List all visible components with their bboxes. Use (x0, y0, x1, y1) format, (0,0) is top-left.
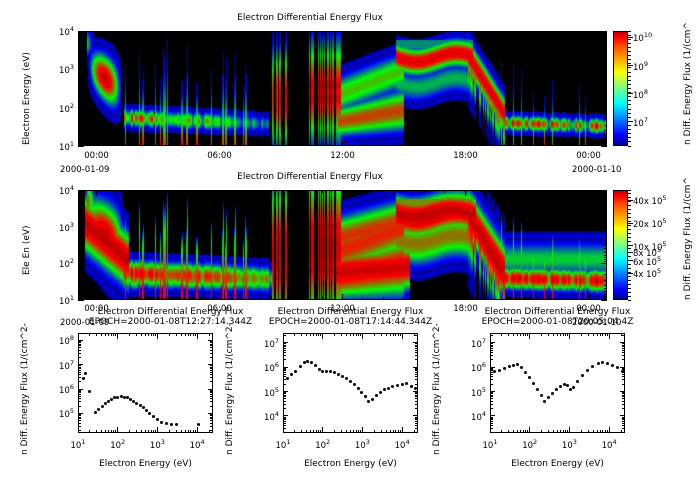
tick-mark (601, 300, 607, 301)
tick-mark (553, 430, 554, 433)
y-tick-label: 102 (44, 102, 74, 115)
line-plot-1[interactable] (283, 333, 418, 433)
line-plot-ytick-0: 106 (46, 383, 74, 396)
tick-mark (490, 343, 493, 344)
tick-mark (628, 233, 631, 234)
tick-mark (415, 418, 418, 419)
tick-mark (78, 257, 81, 258)
colorbar-tick-label: 109 (633, 60, 648, 73)
tick-mark (398, 333, 399, 336)
tick-mark (111, 333, 112, 336)
data-point (294, 370, 297, 373)
tick-mark (283, 355, 286, 356)
tick-mark (601, 190, 607, 191)
tick-mark (386, 333, 387, 336)
tick-mark (210, 390, 213, 391)
tick-mark (78, 223, 81, 224)
tick-mark (313, 430, 314, 433)
tick-mark (383, 143, 384, 146)
tick-mark (547, 143, 548, 146)
tick-mark (283, 374, 286, 375)
tick-mark (78, 414, 81, 415)
colorbar-tick-label: 108 (633, 88, 648, 101)
tick-mark (78, 146, 84, 147)
tick-mark (129, 333, 130, 336)
figure-root: Electron Differential Energy Flux Electr… (0, 0, 697, 492)
tick-mark (356, 430, 357, 433)
tick-mark (513, 333, 514, 336)
tick-mark (260, 190, 261, 193)
tick-mark (525, 333, 526, 336)
tick-mark (415, 384, 418, 385)
tick-mark (601, 146, 607, 147)
tick-mark (301, 297, 302, 300)
tick-mark (628, 146, 631, 147)
tick-mark (628, 121, 631, 122)
data-point (152, 415, 155, 418)
tick-mark (465, 190, 466, 193)
data-point (299, 365, 302, 368)
data-point (572, 386, 575, 389)
tick-mark (283, 417, 286, 418)
tick-mark (358, 430, 359, 433)
tick-mark (414, 333, 415, 336)
tick-mark (210, 368, 213, 369)
tick-mark (403, 31, 404, 34)
y-tick-label: 103 (44, 221, 74, 234)
colorbar-tick-label: 107 (633, 116, 648, 129)
tick-mark (622, 355, 625, 356)
tick-mark (602, 333, 603, 336)
tick-mark (415, 392, 418, 393)
spectrogram-top-plot[interactable] (78, 31, 607, 146)
tick-mark (604, 96, 607, 97)
tick-mark (628, 109, 631, 110)
tick-mark (78, 341, 81, 342)
tick-mark (604, 49, 607, 50)
tick-mark (318, 430, 319, 433)
tick-mark (415, 395, 418, 396)
tick-mark (581, 333, 582, 336)
tick-mark (78, 406, 81, 407)
tick-mark (628, 260, 631, 261)
tick-mark (210, 357, 213, 358)
line-plot-xtick-0: 103 (143, 438, 171, 451)
line-plot-subtitle-2: EPOCH=2000-01-08T20:05:04.4Z (435, 317, 680, 327)
tick-mark (78, 80, 81, 81)
tick-mark (210, 426, 213, 427)
tick-mark (181, 430, 182, 433)
tick-mark (628, 35, 631, 36)
line-plot-2[interactable] (490, 333, 625, 433)
tick-mark (605, 430, 606, 433)
x-tick-label: 06:00 (202, 151, 238, 161)
tick-mark (628, 72, 631, 73)
tick-mark (526, 143, 527, 146)
tick-mark (415, 379, 418, 380)
tick-mark (113, 430, 114, 433)
tick-mark (628, 55, 631, 56)
tick-mark (78, 372, 81, 373)
tick-mark (353, 430, 354, 433)
tick-mark (444, 143, 445, 146)
tick-mark (78, 398, 81, 399)
tick-mark (465, 143, 466, 146)
tick-mark (178, 190, 179, 193)
data-point (290, 373, 293, 376)
tick-mark (588, 143, 589, 146)
tick-mark (604, 255, 607, 256)
tick-mark (362, 143, 363, 146)
tick-mark (622, 408, 625, 409)
tick-mark (78, 42, 81, 43)
tick-mark (197, 333, 198, 339)
spectrogram-top-title: Electron Differential Energy Flux (0, 13, 620, 23)
tick-mark (393, 333, 394, 336)
tick-mark (523, 333, 524, 336)
data-point (512, 364, 515, 367)
tick-mark (628, 96, 631, 97)
tick-mark (604, 215, 607, 216)
tick-mark (322, 297, 323, 300)
tick-mark (219, 297, 220, 300)
colorbar-tick-label: 40x 105 (633, 194, 667, 207)
data-point (532, 382, 535, 385)
tick-mark (178, 297, 179, 300)
tick-mark (342, 143, 343, 146)
data-point (375, 394, 378, 397)
x-tick-label: 18:00 (447, 151, 483, 161)
data-point (524, 371, 527, 374)
tick-mark (601, 69, 607, 70)
tick-mark (604, 125, 607, 126)
line-plot-xtick-2: 104 (595, 438, 623, 451)
data-point (135, 402, 138, 405)
tick-mark (628, 133, 631, 134)
tick-mark (398, 430, 399, 433)
tick-mark (628, 272, 631, 273)
tick-mark (78, 207, 81, 208)
tick-mark (185, 430, 186, 433)
data-point (104, 402, 107, 405)
tick-mark (622, 376, 625, 377)
tick-mark (508, 430, 509, 433)
tick-mark (178, 143, 179, 146)
data-point (536, 388, 539, 391)
tick-mark (210, 344, 213, 345)
tick-mark (137, 297, 138, 300)
tick-mark (169, 430, 170, 433)
tick-mark (283, 425, 286, 426)
tick-mark (188, 430, 189, 433)
line-plot-ytick-1: 106 (251, 361, 279, 374)
tick-mark (628, 223, 633, 224)
tick-mark (78, 418, 81, 419)
tick-mark (153, 430, 154, 433)
tick-mark (383, 190, 384, 193)
tick-mark (490, 393, 493, 394)
tick-mark (628, 217, 631, 218)
data-point (337, 373, 340, 376)
tick-mark (78, 248, 81, 249)
tick-mark (605, 333, 606, 336)
tick-mark (193, 430, 194, 433)
tick-mark (622, 398, 625, 399)
tick-mark (526, 297, 527, 300)
tick-mark (78, 137, 81, 138)
tick-mark (78, 288, 81, 289)
tick-mark (597, 333, 598, 336)
tick-mark (560, 333, 561, 336)
tick-mark (567, 190, 568, 193)
tick-mark (108, 333, 109, 336)
line-plot-ytick-2: 107 (458, 337, 486, 350)
tick-mark (210, 415, 213, 416)
tick-mark (622, 374, 625, 375)
tick-mark (283, 404, 286, 405)
tick-mark (374, 430, 375, 433)
tick-mark (604, 134, 607, 135)
tick-mark (283, 395, 286, 396)
tick-mark (548, 430, 549, 433)
tick-mark (78, 390, 81, 391)
tick-mark (117, 31, 118, 34)
tick-mark (490, 408, 493, 409)
tick-mark (78, 31, 84, 32)
tick-mark (628, 288, 631, 289)
line-plot-xtick-1: 102 (309, 438, 337, 451)
tick-mark (210, 420, 213, 421)
tick-mark (424, 143, 425, 146)
tick-mark (415, 368, 418, 369)
tick-mark (628, 39, 631, 40)
tick-mark (604, 212, 607, 213)
tick-mark (318, 333, 319, 336)
tick-mark (301, 333, 302, 336)
tick-mark (395, 333, 396, 336)
tick-mark (342, 190, 343, 193)
tick-mark (628, 264, 631, 265)
tick-mark (96, 333, 97, 336)
tick-mark (78, 65, 81, 66)
tick-mark (137, 31, 138, 34)
line-plot-xtick-1: 101 (269, 438, 297, 451)
tick-mark (622, 417, 625, 418)
tick-mark (506, 143, 507, 146)
tick-mark (604, 294, 607, 295)
tick-mark (444, 297, 445, 300)
tick-mark (402, 427, 403, 433)
tick-mark (313, 333, 314, 336)
tick-mark (622, 345, 625, 346)
tick-mark (424, 31, 425, 34)
tick-mark (565, 430, 566, 433)
tick-mark (609, 333, 610, 339)
tick-mark (628, 284, 631, 285)
tick-mark (78, 215, 81, 216)
tick-mark (563, 430, 564, 433)
data-point (555, 388, 558, 391)
tick-mark (283, 372, 286, 373)
tick-mark (341, 333, 342, 336)
tick-mark (604, 87, 607, 88)
tick-mark (485, 31, 486, 34)
line-plot-xtick-0: 101 (64, 438, 92, 451)
tick-mark (78, 60, 81, 61)
tick-mark (322, 333, 323, 339)
spectrogram-mid-plot[interactable] (78, 190, 607, 300)
tick-mark (604, 92, 607, 93)
tick-mark (78, 107, 84, 108)
tick-mark (199, 297, 200, 300)
tick-mark (588, 333, 589, 336)
tick-mark (169, 333, 170, 336)
tick-mark (569, 427, 570, 433)
tick-mark (517, 333, 518, 336)
tick-mark (78, 280, 81, 281)
tick-mark (490, 404, 493, 405)
tick-mark (78, 125, 81, 126)
tick-mark (628, 65, 633, 66)
tick-mark (137, 143, 138, 146)
tick-mark (424, 190, 425, 193)
tick-mark (78, 394, 81, 395)
data-point (405, 382, 408, 385)
tick-mark (390, 430, 391, 433)
tick-mark (622, 369, 625, 370)
tick-mark (628, 197, 631, 198)
tick-mark (210, 391, 213, 392)
tick-mark (356, 333, 357, 336)
tick-mark (403, 143, 404, 146)
tick-mark (557, 333, 558, 336)
tick-mark (210, 365, 213, 366)
spectrogram-top-colorbar[interactable] (613, 31, 628, 146)
tick-mark (628, 300, 631, 301)
tick-mark (526, 31, 527, 34)
tick-mark (604, 244, 607, 245)
tick-mark (604, 140, 607, 141)
line-plot-xlabel-2: Electron Energy (eV) (490, 459, 625, 469)
tick-mark (96, 430, 97, 433)
tick-mark (260, 297, 261, 300)
tick-mark (141, 333, 142, 336)
tick-mark (415, 345, 418, 346)
tick-mark (604, 142, 607, 143)
tick-mark (622, 392, 625, 393)
tick-mark (415, 346, 418, 347)
tick-mark (78, 101, 81, 102)
tick-mark (604, 257, 607, 258)
tick-mark (628, 252, 631, 253)
tick-mark (210, 381, 213, 382)
tick-mark (601, 107, 607, 108)
spectrogram-mid-colorbar[interactable] (613, 190, 628, 300)
tick-mark (210, 430, 213, 431)
line-plot-xtick-1: 104 (388, 438, 416, 451)
tick-mark (210, 418, 213, 419)
tick-mark (602, 430, 603, 433)
data-point (101, 405, 104, 408)
tick-mark (628, 80, 631, 81)
tick-mark (628, 47, 631, 48)
tick-mark (210, 396, 213, 397)
colorbar-tick-label: 1010 (633, 31, 652, 44)
y-tick-label: 101 (44, 294, 74, 307)
tick-mark (283, 396, 286, 397)
tick-mark (185, 333, 186, 336)
tick-mark (148, 430, 149, 433)
tick-mark (628, 76, 631, 77)
data-point (601, 361, 604, 364)
tick-mark (490, 418, 493, 419)
line-plot-ytick-0: 108 (46, 334, 74, 347)
tick-mark (105, 333, 106, 336)
tick-mark (78, 350, 81, 351)
tick-mark (210, 401, 213, 402)
data-point (160, 421, 163, 424)
tick-mark (190, 333, 191, 336)
tick-mark (188, 333, 189, 336)
tick-mark (601, 31, 607, 32)
tick-mark (283, 401, 286, 402)
tick-mark (557, 430, 558, 433)
tick-mark (513, 430, 514, 433)
tick-mark (622, 348, 625, 349)
tick-mark (78, 392, 81, 393)
tick-mark (415, 419, 418, 420)
data-point (551, 392, 554, 395)
tick-mark (601, 263, 607, 264)
data-point (508, 365, 511, 368)
tick-mark (199, 31, 200, 34)
tick-mark (490, 355, 493, 356)
data-point (516, 363, 519, 366)
data-point (581, 374, 584, 377)
tick-mark (609, 427, 610, 433)
tick-mark (78, 119, 81, 120)
tick-mark (209, 333, 210, 336)
tick-mark (386, 430, 387, 433)
tick-mark (353, 333, 354, 336)
tick-mark (316, 430, 317, 433)
tick-mark (601, 226, 607, 227)
tick-mark (490, 423, 493, 424)
tick-mark (78, 259, 81, 260)
data-point (611, 364, 614, 367)
line-plot-xtick-2: 103 (555, 438, 583, 451)
tick-mark (78, 415, 81, 416)
data-point (314, 364, 317, 367)
tick-mark (281, 143, 282, 146)
data-point (286, 377, 289, 380)
tick-mark (78, 294, 81, 295)
tick-mark (283, 370, 286, 371)
data-point (170, 423, 173, 426)
tick-mark (628, 117, 631, 118)
tick-mark (490, 333, 491, 339)
line-plot-0[interactable] (78, 333, 213, 433)
tick-mark (78, 367, 81, 368)
tick-mark (78, 342, 81, 343)
line-plot-xlabel-0: Electron Energy (eV) (78, 459, 213, 469)
data-point (148, 412, 151, 415)
line-plot-ytick-0: 105 (46, 407, 74, 420)
tick-mark (117, 190, 118, 193)
tick-mark (78, 190, 84, 191)
data-point (310, 361, 313, 364)
tick-mark (490, 370, 493, 371)
